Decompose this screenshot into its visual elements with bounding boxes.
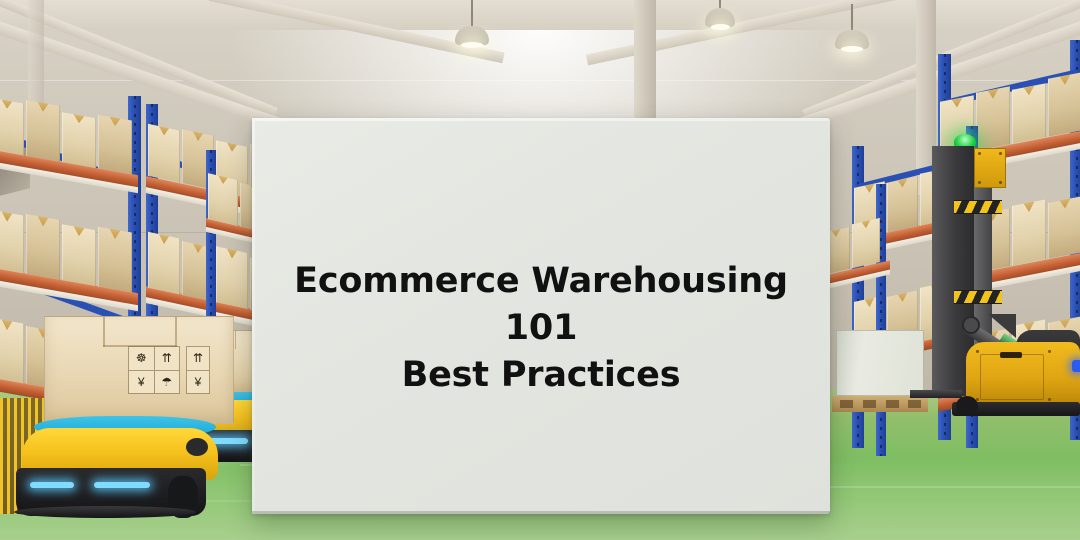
- handling-symbols-block: ☸ ⇈ ¥ ☂: [128, 346, 180, 394]
- light-glow: [461, 42, 483, 48]
- light-glow: [711, 24, 730, 30]
- carton: [148, 232, 180, 295]
- forklift-control-box: [974, 148, 1006, 188]
- light-cord: [851, 4, 853, 30]
- fragile-icon: ¥: [129, 371, 154, 394]
- banner-image: ☸ ⇈ ¥ ☂ ⇈ ¥: [0, 0, 1080, 540]
- wooden-pallet: [832, 396, 928, 412]
- agv-robot-foreground: ☸ ⇈ ¥ ☂ ⇈ ¥: [6, 316, 234, 506]
- agv-led-strip-center: [94, 482, 150, 488]
- carton: [0, 97, 24, 155]
- hazard-stripe-upper: [954, 200, 1002, 214]
- light-cord: [719, 0, 721, 8]
- light-cord: [471, 0, 473, 26]
- pallet-load-center-right: [832, 330, 928, 418]
- title-panel: Ecommerce Warehousing 101 Best Practices: [252, 118, 830, 514]
- carton: [208, 173, 238, 226]
- banner-title: Ecommerce Warehousing 101 Best Practices: [252, 258, 830, 399]
- forklift-access-panel: [980, 354, 1044, 400]
- hazard-stripe-lower: [954, 290, 1002, 304]
- forklift-tine: [910, 390, 962, 398]
- banner-title-line-1: Ecommerce Warehousing 101: [252, 258, 830, 352]
- panel-bottom-shadow: [252, 511, 830, 514]
- handling-symbols-side: ⇈ ¥: [186, 346, 210, 394]
- carton: [1048, 72, 1080, 137]
- this-side-up-icon-side: ⇈: [187, 347, 209, 370]
- pendant-light-center: [705, 0, 735, 30]
- reach-forklift-right: [928, 138, 1080, 428]
- keep-dry-icon: ☂: [155, 371, 180, 394]
- carton: [0, 209, 24, 273]
- pendant-light-right: [835, 4, 869, 54]
- pendant-light-left: [455, 0, 489, 50]
- carton: [852, 218, 880, 268]
- light-glow: [841, 46, 863, 52]
- carton: [1012, 83, 1046, 144]
- agv-led-strip-left: [30, 482, 74, 488]
- carton: [148, 124, 180, 183]
- agv-sensor-pod: [186, 438, 208, 456]
- carton: [62, 112, 96, 168]
- panel-top-highlight: [252, 118, 830, 121]
- carton: [62, 224, 96, 286]
- white-carton: [836, 330, 924, 396]
- forklift-blue-light: [1072, 360, 1080, 372]
- handle-with-care-icon: ☸: [129, 347, 154, 370]
- carton: [26, 100, 60, 162]
- carton: [26, 214, 60, 280]
- forklift-wheel: [956, 396, 978, 416]
- fragile-icon-side: ¥: [187, 371, 209, 394]
- forklift-pivot: [962, 316, 980, 334]
- this-side-up-icon: ⇈: [155, 347, 180, 370]
- agv-base-ring: [14, 506, 196, 518]
- banner-title-line-2: Best Practices: [252, 352, 830, 399]
- forklift-handle: [1000, 352, 1022, 358]
